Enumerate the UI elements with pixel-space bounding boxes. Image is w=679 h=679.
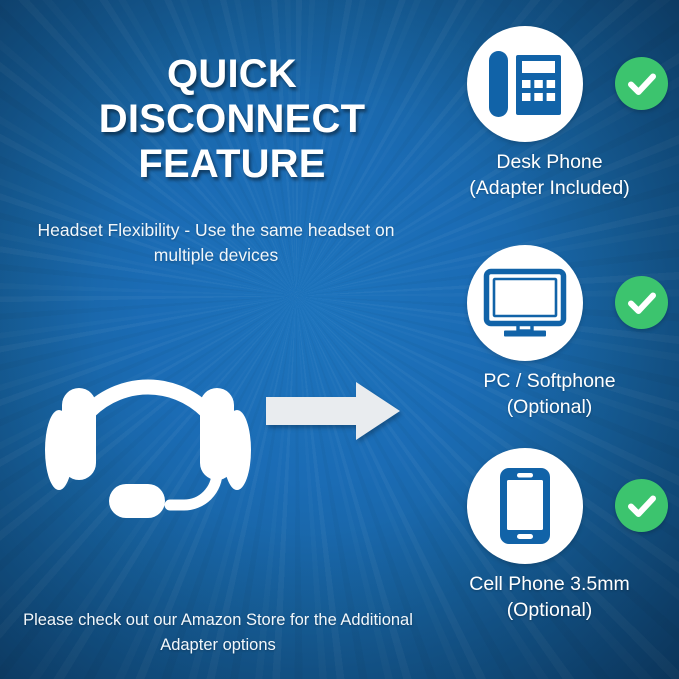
right-arrow-icon	[266, 381, 400, 441]
device-label-secondary: (Optional)	[420, 395, 679, 421]
check-circle-icon	[625, 489, 659, 523]
device-label-secondary: (Optional)	[420, 598, 679, 624]
status-badge-desk-phone	[615, 57, 668, 110]
device-label-primary: Cell Phone 3.5mm	[469, 573, 629, 595]
device-label-desk-phone: Desk Phone (Adapter Included)	[420, 150, 679, 201]
device-label-primary: Desk Phone	[496, 151, 602, 173]
smartphone-icon	[467, 448, 583, 564]
device-label-secondary: (Adapter Included)	[420, 176, 679, 202]
product-infographic: QUICK DISCONNECT FEATURE Headset Flexibi…	[0, 0, 679, 679]
check-circle-icon	[625, 286, 659, 320]
footnote-text: Please check out our Amazon Store for th…	[22, 608, 414, 658]
status-badge-pc-softphone	[615, 276, 668, 329]
page-title: QUICK DISCONNECT FEATURE	[32, 52, 432, 186]
check-circle-icon	[625, 67, 659, 101]
device-label-cell-phone: Cell Phone 3.5mm (Optional)	[420, 572, 679, 623]
device-label-pc-softphone: PC / Softphone (Optional)	[420, 369, 679, 420]
subtitle-text: Headset Flexibility - Use the same heads…	[14, 218, 418, 269]
desk-phone-icon	[467, 26, 583, 142]
device-label-primary: PC / Softphone	[483, 370, 615, 392]
status-badge-cell-phone	[615, 479, 668, 532]
headset-icon	[40, 322, 256, 522]
content-layer: QUICK DISCONNECT FEATURE Headset Flexibi…	[0, 0, 679, 679]
monitor-icon	[467, 245, 583, 361]
